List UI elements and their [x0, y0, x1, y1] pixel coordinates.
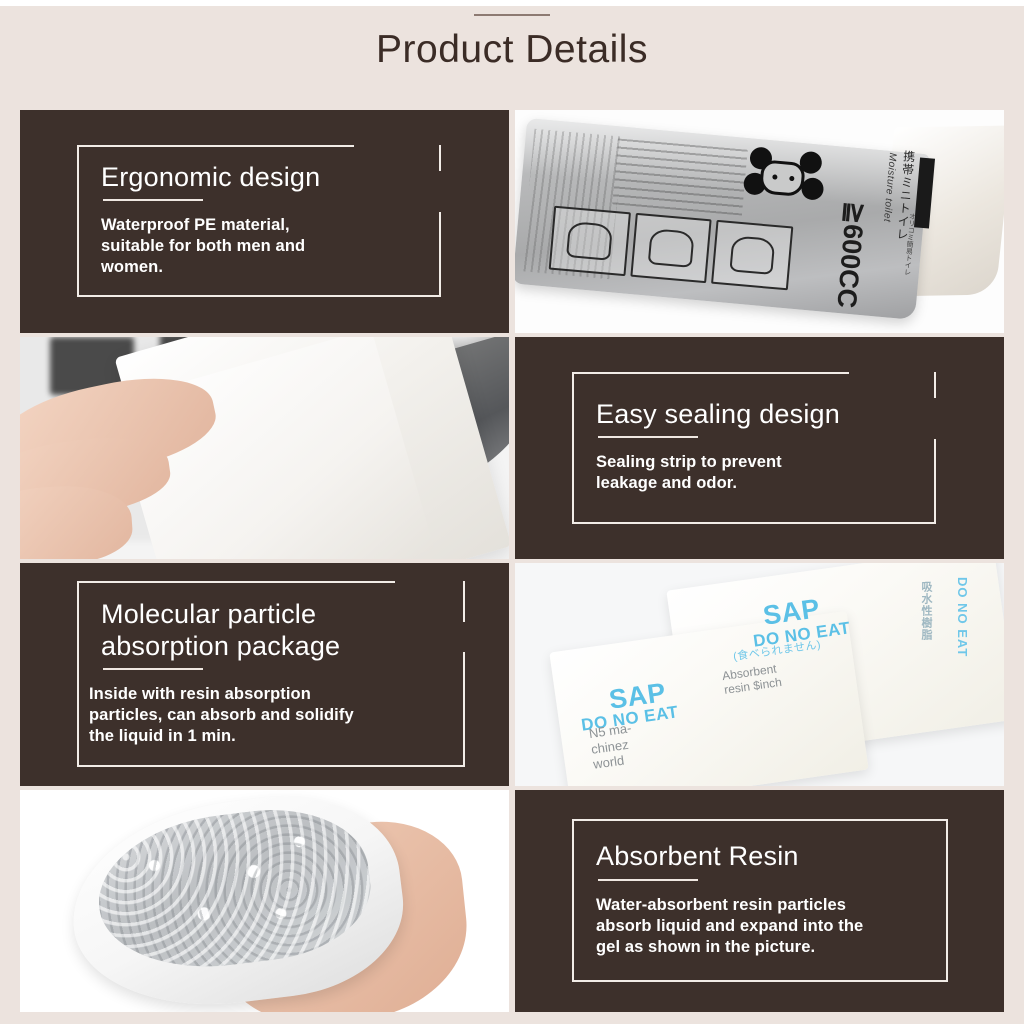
- panel-frame: Easy sealing design Sealing strip to pre…: [572, 372, 936, 524]
- pictogram-step-2: [630, 213, 712, 283]
- sap-label-cn-vertical: 吸水性樹脂: [918, 581, 934, 677]
- panel-ergonomic-design: Ergonomic design Waterproof PE material,…: [20, 110, 509, 333]
- sap-label-jp-vertical: DO NO EAT: [955, 577, 970, 689]
- frame-border-left: [572, 372, 574, 524]
- photo-packaged-bag: 携帯ミニトイレ Moisture toilet ≧600CC オリコミ簡易トイレ: [515, 110, 1004, 333]
- header-rule-divider: [474, 14, 550, 16]
- frame-border-top: [77, 581, 395, 583]
- pictogram-step-3: [711, 220, 793, 290]
- frame-border-right: [946, 819, 948, 982]
- frame-border-bottom: [572, 522, 936, 524]
- panel-heading: Absorbent Resin: [596, 841, 932, 872]
- resin-gel-image: [20, 790, 509, 1013]
- frame-border-top: [77, 145, 354, 147]
- panel-body-text: Sealing strip to prevent leakage and odo…: [596, 452, 920, 494]
- frame-border-bottom: [572, 980, 948, 982]
- panel-easy-sealing-design: Easy sealing design Sealing strip to pre…: [515, 337, 1004, 560]
- frame-border-left: [572, 819, 574, 982]
- panel-body-text: Waterproof PE material, suitable for bot…: [101, 215, 425, 278]
- frame-border-bottom: [77, 295, 441, 297]
- mascot-eye-right: [789, 176, 794, 181]
- frame-border-left: [77, 581, 79, 767]
- frame-border-top: [572, 819, 948, 821]
- sealing-strip-image: [20, 337, 509, 560]
- packaged-bag-image: 携帯ミニトイレ Moisture toilet ≧600CC オリコミ簡易トイレ: [515, 110, 1004, 333]
- bag-print-column: 携帯ミニトイレ Moisture toilet ≧600CC オリコミ簡易トイレ: [792, 141, 924, 299]
- panel-body-text: Inside with resin absorption particles, …: [89, 684, 449, 747]
- panel-heading-rule: [103, 199, 203, 201]
- product-details-grid: Ergonomic design Waterproof PE material,…: [20, 110, 1004, 1012]
- panel-heading-rule: [103, 668, 203, 670]
- page-title: Product Details: [0, 30, 1024, 71]
- panel-molecular-particle-absorption-package: Molecular particle absorption package In…: [20, 563, 509, 786]
- bag-capacity-text: ≧600CC: [830, 200, 871, 309]
- frame-border-top: [572, 372, 849, 374]
- photo-sealing-strip: [20, 337, 509, 560]
- pictogram-step-1: [549, 206, 631, 276]
- product-details-page: Product Details Ergonomic design Waterpr…: [0, 0, 1024, 1024]
- panel-frame: Absorbent Resin Water-absorbent resin pa…: [572, 819, 948, 982]
- photo-resin-gel: [20, 790, 509, 1013]
- frame-border-right: [463, 652, 465, 767]
- panel-heading: Molecular particle absorption package: [101, 599, 449, 662]
- bag-printed-paragraph: [612, 138, 747, 215]
- panel-frame: Molecular particle absorption package In…: [77, 581, 465, 767]
- panel-heading: Ergonomic design: [101, 162, 425, 193]
- panel-heading-rule: [598, 879, 698, 881]
- panel-absorbent-resin: Absorbent Resin Water-absorbent resin pa…: [515, 790, 1004, 1013]
- photo-sap-sachet: SAP DO NO EAT (食べられません) Absorbent resin …: [515, 563, 1004, 786]
- top-white-strip: [0, 0, 1024, 6]
- panel-heading-rule: [598, 436, 698, 438]
- frame-border-right-stub: [463, 581, 465, 622]
- mascot-head: [759, 159, 806, 197]
- panel-body-text: Water-absorbent resin particles absorb l…: [596, 895, 932, 958]
- sap-label-maker: N5 ma- chinez world: [588, 720, 637, 772]
- frame-border-right: [439, 212, 441, 297]
- frame-border-right-stub: [439, 145, 441, 171]
- frame-border-left: [77, 145, 79, 297]
- frame-border-bottom: [77, 765, 465, 767]
- mascot-eye-left: [772, 174, 777, 179]
- frame-border-right: [934, 439, 936, 524]
- page-header: Product Details: [0, 6, 1024, 71]
- panel-heading: Easy sealing design: [596, 399, 920, 430]
- sap-sachet-image: SAP DO NO EAT (食べられません) Absorbent resin …: [515, 563, 1004, 786]
- panel-frame: Ergonomic design Waterproof PE material,…: [77, 145, 441, 297]
- frame-border-right-stub: [934, 372, 936, 398]
